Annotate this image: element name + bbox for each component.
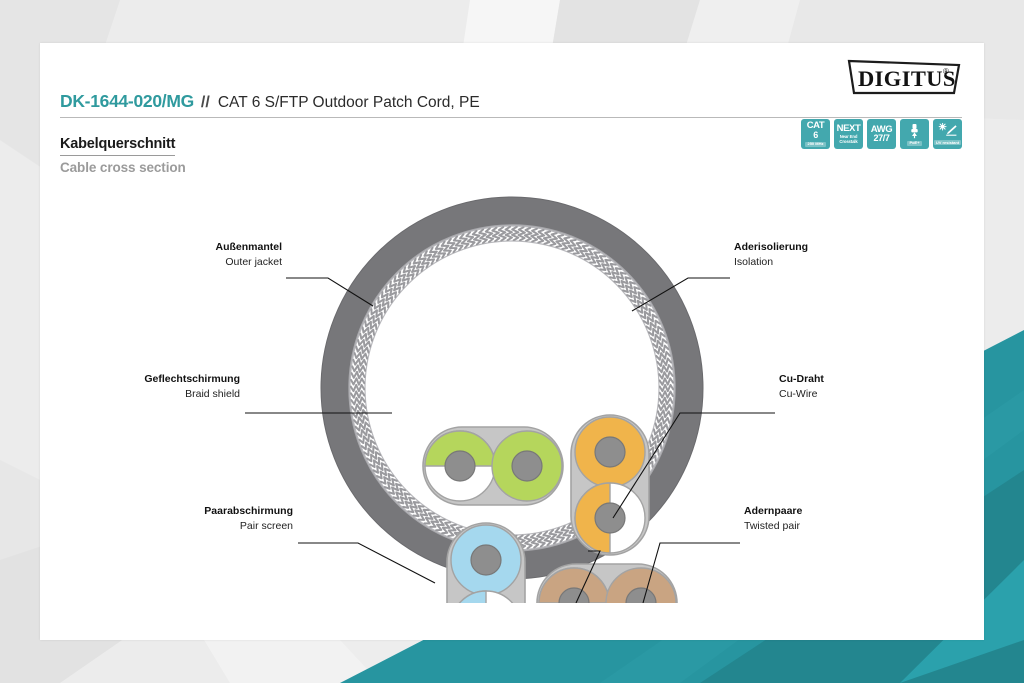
feature-badge-row: CAT 6 250 MHz NEXT Near End Crosstalk AW…	[801, 119, 962, 149]
cat6-badge-sub2: 250 MHz	[805, 142, 825, 147]
orange-pair	[571, 415, 649, 555]
callout-outer-jacket-de: Außenmantel	[215, 241, 282, 253]
awg-badge: AWG 27/7	[867, 119, 896, 149]
callout-braid-shield-de: Geflechtschirmung	[144, 373, 240, 385]
uv-sun-icon	[938, 123, 957, 138]
next-badge-main: NEXT	[837, 124, 861, 134]
poe-badge-label: PoE+	[907, 141, 921, 146]
logo-wordmark: DIGITUS	[858, 66, 956, 91]
callout-cu-wire-de: Cu-Draht	[779, 373, 824, 385]
green-wire-striped-conductor	[445, 451, 475, 481]
callout-outer-jacket-en: Outer jacket	[225, 256, 282, 268]
green-wire-striped	[425, 431, 495, 501]
callout-braid-shield-en: Braid shield	[185, 388, 240, 400]
orange-wire-solid	[575, 417, 645, 487]
registered-mark: ®	[943, 67, 949, 76]
green-wire-solid	[492, 431, 562, 501]
plug-icon	[907, 123, 922, 139]
orange-wire-striped-conductor	[595, 503, 625, 533]
callout-isolation-de: Aderisolierung	[734, 241, 808, 253]
section-title-de: Kabelquerschnitt	[60, 136, 175, 156]
callout-twisted-pair-en: Twisted pair	[744, 520, 801, 532]
uv-badge-label: UV resistant	[934, 140, 961, 145]
cable-cross-section-diagram: Außenmantel Outer jacket Geflechtschirmu…	[40, 173, 984, 603]
callout-pair-screen-en: Pair screen	[240, 520, 293, 532]
brown-pair	[537, 564, 677, 603]
poe-badge: PoE+	[900, 119, 929, 149]
next-badge: NEXT Near End Crosstalk	[834, 119, 863, 149]
awg-badge-sub1: 27/7	[874, 134, 890, 143]
blue-wire-solid	[451, 525, 521, 595]
sku-separator: //	[201, 94, 210, 111]
callout-twisted-pair-de: Adernpaare	[744, 505, 803, 517]
next-badge-sub1: Near End	[840, 135, 858, 139]
orange-wire-solid-conductor	[595, 437, 625, 467]
blue-pair	[447, 523, 525, 603]
content-card: DIGITUS ® DK-1644-020/MG//CAT 6 S/FTP Ou…	[40, 43, 984, 640]
next-badge-sub2: Crosstalk	[839, 140, 857, 144]
callout-pair-screen-de: Paarabschirmung	[204, 505, 293, 517]
green-wire-solid-conductor	[512, 451, 542, 481]
cable-body	[321, 197, 703, 603]
uv-badge: UV resistant	[933, 119, 962, 149]
page-root: DIGITUS ® DK-1644-020/MG//CAT 6 S/FTP Ou…	[0, 0, 1024, 683]
section-heading: Kabelquerschnitt Cable cross section	[60, 135, 186, 175]
callout-cu-wire-en: Cu-Wire	[779, 388, 818, 400]
blue-wire-solid-conductor	[471, 545, 501, 575]
cat6-badge: CAT 6 250 MHz	[801, 119, 830, 149]
cat6-badge-sub1: 6	[813, 131, 818, 140]
callout-isolation-en: Isolation	[734, 256, 773, 268]
product-header: DK-1644-020/MG//CAT 6 S/FTP Outdoor Patc…	[60, 91, 962, 118]
orange-wire-striped	[575, 483, 645, 553]
green-pair	[423, 427, 563, 505]
product-sku: DK-1644-020/MG	[60, 91, 194, 111]
product-description: CAT 6 S/FTP Outdoor Patch Cord, PE	[218, 94, 480, 111]
